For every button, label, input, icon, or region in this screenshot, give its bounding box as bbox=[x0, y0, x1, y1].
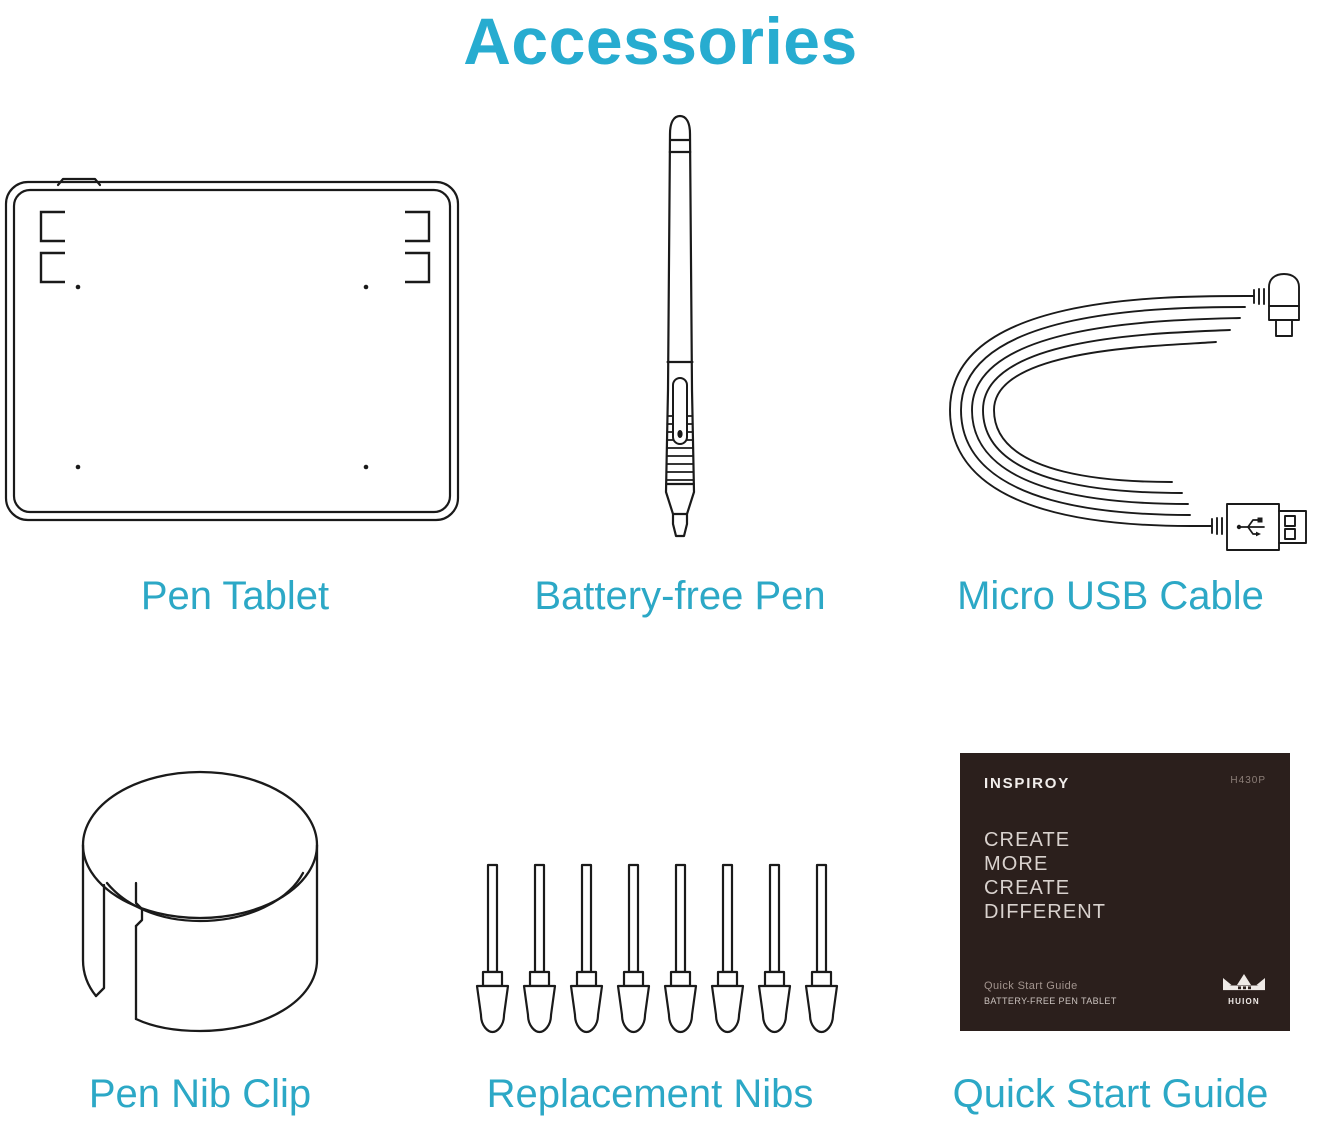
accessory-item-micro-usb-cable: Micro USB Cable bbox=[900, 270, 1321, 630]
accessory-item-pen-nib-clip: Pen Nib Clip bbox=[0, 745, 400, 1140]
pen-tablet-icon bbox=[0, 160, 470, 540]
page-title: Accessories bbox=[0, 2, 1321, 80]
guide-footer-text: Quick Start Guide BATTERY-FREE PEN TABLE… bbox=[984, 980, 1117, 1007]
accessory-label-pen-nib-clip: Pen Nib Clip bbox=[0, 1070, 400, 1118]
accessory-label-micro-usb-cable: Micro USB Cable bbox=[900, 572, 1321, 620]
guide-slogan-line-1: CREATE bbox=[984, 828, 1266, 852]
nib-clip-ring-icon bbox=[60, 755, 340, 1055]
accessories-page: Accessories bbox=[0, 0, 1321, 1140]
guide-slogan: CREATE MORE CREATE DIFFERENT bbox=[984, 828, 1266, 924]
accessory-label-replacement-nibs: Replacement Nibs bbox=[420, 1070, 880, 1118]
accessory-item-battery-free-pen: Battery-free Pen bbox=[440, 100, 920, 630]
coiled-usb-cable-icon bbox=[920, 270, 1320, 550]
accessory-label-battery-free-pen: Battery-free Pen bbox=[440, 572, 920, 620]
guide-slogan-line-2: MORE bbox=[984, 852, 1266, 876]
guide-slogan-line-4: DIFFERENT bbox=[984, 900, 1266, 924]
guide-footer: Quick Start Guide BATTERY-FREE PEN TABLE… bbox=[984, 973, 1266, 1007]
accessory-label-pen-tablet: Pen Tablet bbox=[0, 572, 470, 620]
guide-brand-name: INSPIROY bbox=[984, 775, 1070, 792]
guide-subtitle: Quick Start Guide bbox=[984, 980, 1117, 992]
huion-logo: HUION bbox=[1222, 973, 1266, 1007]
accessory-item-replacement-nibs: Replacement Nibs bbox=[420, 745, 880, 1140]
quick-start-guide-card: INSPIROY H430P CREATE MORE CREATE DIFFER… bbox=[960, 753, 1290, 1031]
replacement-nibs-icon bbox=[470, 860, 850, 1040]
guide-brand-row: INSPIROY H430P bbox=[984, 775, 1266, 792]
accessory-item-quick-start-guide: INSPIROY H430P CREATE MORE CREATE DIFFER… bbox=[900, 745, 1321, 1140]
accessory-label-quick-start-guide: Quick Start Guide bbox=[900, 1070, 1321, 1118]
huion-logo-text: HUION bbox=[1222, 997, 1266, 1007]
guide-subtitle-secondary: BATTERY-FREE PEN TABLET bbox=[984, 995, 1117, 1007]
huion-crown-icon bbox=[1222, 973, 1266, 995]
guide-slogan-line-3: CREATE bbox=[984, 876, 1266, 900]
guide-model-number: H430P bbox=[1230, 775, 1266, 786]
accessory-item-pen-tablet: Pen Tablet bbox=[0, 160, 470, 630]
stylus-pen-icon bbox=[630, 100, 730, 540]
